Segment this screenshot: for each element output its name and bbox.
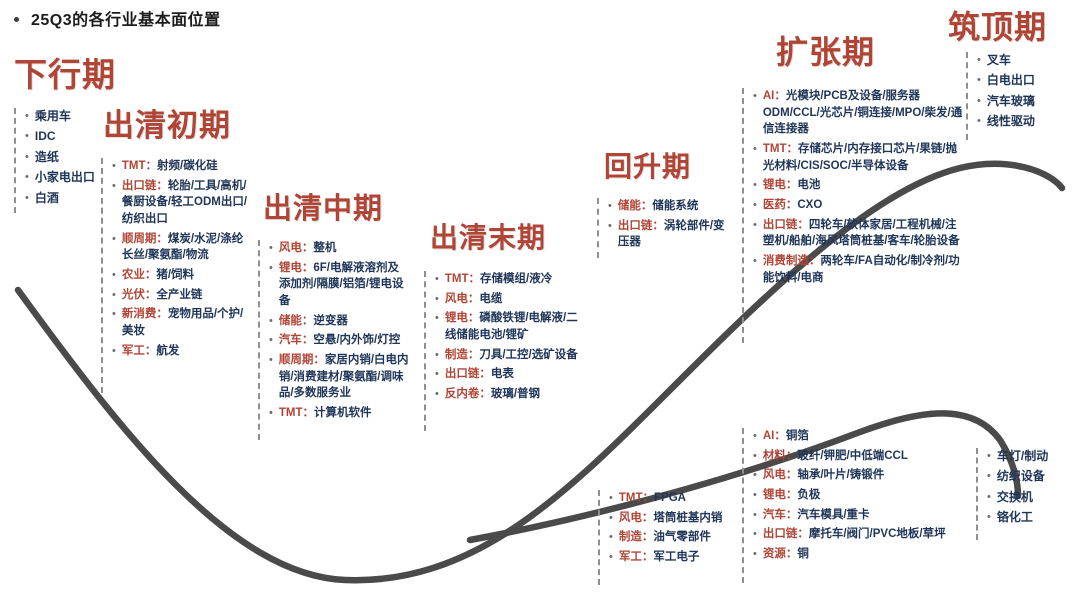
stage-list-clearing-mid-items: •风电整机 •锂电6F/电解液溶剂及添加剂/隔膜/铝箔/锂电设备 •储能逆变器 …	[269, 240, 410, 422]
bullet-icon: •	[987, 449, 991, 464]
stage-list-lower-far-right: •车灯/制动 •纺织设备 •交换机 •铬化工	[976, 448, 1076, 540]
list-item[interactable]: •锂电负极	[753, 487, 968, 504]
list-item[interactable]: •反内卷玻璃/普钢	[435, 386, 582, 403]
list-item[interactable]: •制造油气零部件	[609, 529, 734, 546]
list-item[interactable]: •叉车	[977, 52, 1070, 69]
bullet-icon: •	[112, 288, 116, 303]
bullet-icon: •	[987, 469, 991, 484]
bullet-icon: •	[269, 353, 273, 368]
list-item[interactable]: •军工航发	[112, 343, 249, 360]
list-item[interactable]: •军工军工电子	[609, 549, 734, 566]
bullet-icon: •	[753, 547, 757, 562]
list-item[interactable]: •TMT射频/碳化硅	[112, 158, 249, 175]
bullet-icon: •	[25, 109, 29, 124]
list-item[interactable]: •线性驱动	[977, 113, 1070, 130]
list-item[interactable]: •顺周期煤炭/水泥/涤纶长丝/聚氨酯/物流	[112, 231, 249, 264]
stage-list-clearing-early-items: •TMT射频/碳化硅 •出口链轮胎/工具/高机/餐厨设备/轻工ODM出口/纺织出…	[112, 158, 249, 359]
list-item[interactable]: •TMT计算机软件	[269, 405, 410, 422]
bullet-icon: •	[753, 508, 757, 523]
slide-canvas: 25Q3的各行业基本面位置 下行期 出清初期 出清中期 出清末期 回升期 扩张期…	[0, 0, 1080, 595]
bullet-icon: •	[753, 468, 757, 483]
page-title: 25Q3的各行业基本面位置	[31, 6, 221, 30]
list-item[interactable]: •IDC	[25, 128, 98, 145]
list-item[interactable]: •汽车汽车模具/重卡	[753, 507, 968, 524]
bullet-icon: •	[608, 199, 612, 214]
bullet-icon: •	[112, 344, 116, 359]
list-item[interactable]: •资源铜	[753, 546, 968, 563]
stage-list-lower-right-items: •AI铜箔 •材料玻纤/钾肥/中低端CCL •风电轴承/叶片/铸锻件 •锂电负极…	[753, 428, 968, 563]
stage-list-lower-right: •AI铜箔 •材料玻纤/钾肥/中低端CCL •风电轴承/叶片/铸锻件 •锂电负极…	[742, 428, 968, 583]
list-item[interactable]: •锂电电池	[753, 177, 964, 194]
bullet-icon: •	[987, 510, 991, 525]
list-item[interactable]: •车灯/制动	[987, 448, 1076, 465]
list-item[interactable]: •TMT存储模组/液冷	[435, 271, 582, 288]
bullet-icon: •	[112, 159, 116, 174]
bullet-icon: •	[608, 219, 612, 234]
stage-heading-downturn: 下行期	[14, 48, 116, 96]
bullet-icon: •	[609, 550, 613, 565]
stage-list-clearing-early: •TMT射频/碳化硅 •出口链轮胎/工具/高机/餐厨设备/轻工ODM出口/纺织出…	[101, 158, 249, 393]
bullet-icon: •	[609, 491, 613, 506]
stage-list-downturn: •乘用车 •IDC •造纸 •小家电出口 •白酒	[14, 108, 98, 213]
bullet-icon: •	[977, 94, 981, 109]
bullet-icon: •	[435, 348, 439, 363]
bullet-icon: •	[112, 307, 116, 322]
stage-list-peaking-items: •叉车 •白电出口 •汽车玻璃 •线性驱动	[977, 52, 1070, 131]
list-item[interactable]: •锂电磷酸铁锂/电解液/二线储能电池/锂矿	[435, 310, 582, 343]
stage-list-expansion-items: •AI光模块/PCB及设备/服务器ODM/CCL/光芯片/铜连接/MPO/柴发/…	[753, 88, 964, 286]
bullet-icon: •	[753, 254, 757, 269]
bullet-icon: •	[753, 198, 757, 213]
bullet-icon: •	[753, 449, 757, 464]
list-item[interactable]: •出口链四轮车/软体家居/工程机械/注塑机/船舶/海风塔筒桩基/客车/轮胎设备	[753, 217, 964, 250]
stage-list-clearing-late-items: •TMT存储模组/液冷 •风电电缆 •锂电磷酸铁锂/电解液/二线储能电池/锂矿 …	[435, 271, 582, 403]
bullet-icon: •	[753, 142, 757, 157]
bullet-dot-icon	[14, 17, 19, 22]
list-item[interactable]: •材料玻纤/钾肥/中低端CCL	[753, 448, 968, 465]
list-item[interactable]: •出口链摩托车/阀门/PVC地板/草坪	[753, 526, 968, 543]
list-item[interactable]: •新消费宠物用品/个护/美妆	[112, 306, 249, 339]
bullet-icon: •	[112, 268, 116, 283]
bullet-icon: •	[987, 490, 991, 505]
list-item[interactable]: •农业猪/饲料	[112, 267, 249, 284]
list-item[interactable]: •铬化工	[987, 509, 1076, 526]
bullet-icon: •	[753, 89, 757, 104]
bullet-icon: •	[435, 272, 439, 287]
bullet-icon: •	[269, 406, 273, 421]
list-item[interactable]: •AI光模块/PCB及设备/服务器ODM/CCL/光芯片/铜连接/MPO/柴发/…	[753, 88, 964, 138]
bullet-icon: •	[25, 191, 29, 206]
stage-list-peaking: •叉车 •白电出口 •汽车玻璃 •线性驱动	[966, 52, 1070, 140]
bullet-icon: •	[609, 511, 613, 526]
bullet-icon: •	[609, 530, 613, 545]
list-item[interactable]: •交换机	[987, 489, 1076, 506]
list-item[interactable]: •储能储能系统	[608, 198, 725, 215]
bullet-icon: •	[25, 170, 29, 185]
bullet-icon: •	[112, 232, 116, 247]
stage-heading-recovery: 回升期	[604, 145, 691, 185]
list-item[interactable]: •风电电缆	[435, 291, 582, 308]
stage-heading-peaking: 筑顶期	[948, 2, 1047, 48]
list-item[interactable]: •造纸	[25, 149, 98, 166]
list-item[interactable]: •乘用车	[25, 108, 98, 125]
bullet-icon: •	[435, 292, 439, 307]
list-item[interactable]: •TMT存储芯片/内存接口芯片/果链/抛光材料/CIS/SOC/半导体设备	[753, 141, 964, 174]
list-item[interactable]: •风电整机	[269, 240, 410, 257]
bullet-icon: •	[435, 387, 439, 402]
list-item[interactable]: •TMTFPGA	[609, 490, 734, 507]
stage-list-lower-mid-items: •TMTFPGA •风电塔筒桩基内销 •制造油气零部件 •军工军工电子	[609, 490, 734, 566]
list-item[interactable]: •医药CXO	[753, 197, 964, 214]
bullet-icon: •	[25, 129, 29, 144]
stage-list-lower-far-right-items: •车灯/制动 •纺织设备 •交换机 •铬化工	[987, 448, 1076, 527]
stage-list-expansion: •AI光模块/PCB及设备/服务器ODM/CCL/光芯片/铜连接/MPO/柴发/…	[742, 88, 964, 343]
bullet-icon: •	[753, 527, 757, 542]
bullet-icon: •	[977, 53, 981, 68]
stage-heading-clearing-early: 出清初期	[103, 100, 231, 145]
bullet-icon: •	[753, 488, 757, 503]
bullet-icon: •	[112, 179, 116, 194]
list-item[interactable]: •风电轴承/叶片/铸锻件	[753, 467, 968, 484]
list-item[interactable]: •出口链涡轮部件/变压器	[608, 218, 725, 251]
stage-list-downturn-items: •乘用车 •IDC •造纸 •小家电出口 •白酒	[25, 108, 98, 207]
list-item[interactable]: •顺周期家居内销/白电内销/消费建材/聚氨酯/调味品/多数服务业	[269, 352, 410, 402]
bullet-icon: •	[753, 429, 757, 444]
list-item[interactable]: •白酒	[25, 190, 98, 207]
list-item[interactable]: •出口链轮胎/工具/高机/餐厨设备/轻工ODM出口/纺织出口	[112, 178, 249, 228]
list-item[interactable]: •AI铜箔	[753, 428, 968, 445]
list-item[interactable]: •储能逆变器	[269, 313, 410, 330]
bullet-icon: •	[753, 178, 757, 193]
list-item[interactable]: •白电出口	[977, 72, 1070, 89]
bullet-icon: •	[25, 150, 29, 165]
list-item[interactable]: •消费制造两轮车/FA自动化/制冷剂/功能饮料/电商	[753, 253, 964, 286]
list-item[interactable]: •纺织设备	[987, 468, 1076, 485]
list-item[interactable]: •出口链电表	[435, 366, 582, 383]
list-item[interactable]: •锂电6F/电解液溶剂及添加剂/隔膜/铝箔/锂电设备	[269, 260, 410, 310]
bullet-icon: •	[269, 314, 273, 329]
bullet-icon: •	[977, 114, 981, 129]
bullet-icon: •	[269, 241, 273, 256]
stage-list-recovery-items: •储能储能系统 •出口链涡轮部件/变压器	[608, 198, 725, 251]
stage-list-recovery: •储能储能系统 •出口链涡轮部件/变压器	[597, 198, 725, 258]
stage-heading-clearing-late: 出清末期	[430, 216, 546, 256]
bullet-icon: •	[753, 218, 757, 233]
list-item[interactable]: •汽车空悬/内外饰/灯控	[269, 332, 410, 349]
list-item[interactable]: •风电塔筒桩基内销	[609, 510, 734, 527]
bullet-icon: •	[977, 73, 981, 88]
stage-heading-clearing-mid: 出清中期	[263, 185, 383, 227]
list-item[interactable]: •光伏全产业链	[112, 287, 249, 304]
bullet-icon: •	[435, 367, 439, 382]
stage-list-clearing-mid: •风电整机 •锂电6F/电解液溶剂及添加剂/隔膜/铝箔/锂电设备 •储能逆变器 …	[258, 240, 410, 440]
bullet-icon: •	[269, 261, 273, 276]
bullet-icon: •	[435, 311, 439, 326]
list-item[interactable]: •小家电出口	[25, 169, 98, 186]
stage-list-clearing-late: •TMT存储模组/液冷 •风电电缆 •锂电磷酸铁锂/电解液/二线储能电池/锂矿 …	[424, 271, 582, 431]
stage-heading-expansion: 扩张期	[776, 27, 875, 73]
slide-title: 25Q3的各行业基本面位置	[14, 6, 221, 30]
bullet-icon: •	[269, 333, 273, 348]
stage-list-lower-mid: •TMTFPGA •风电塔筒桩基内销 •制造油气零部件 •军工军工电子	[598, 490, 734, 585]
list-item[interactable]: •制造刀具/工控/选矿设备	[435, 347, 582, 364]
list-item[interactable]: •汽车玻璃	[977, 93, 1070, 110]
